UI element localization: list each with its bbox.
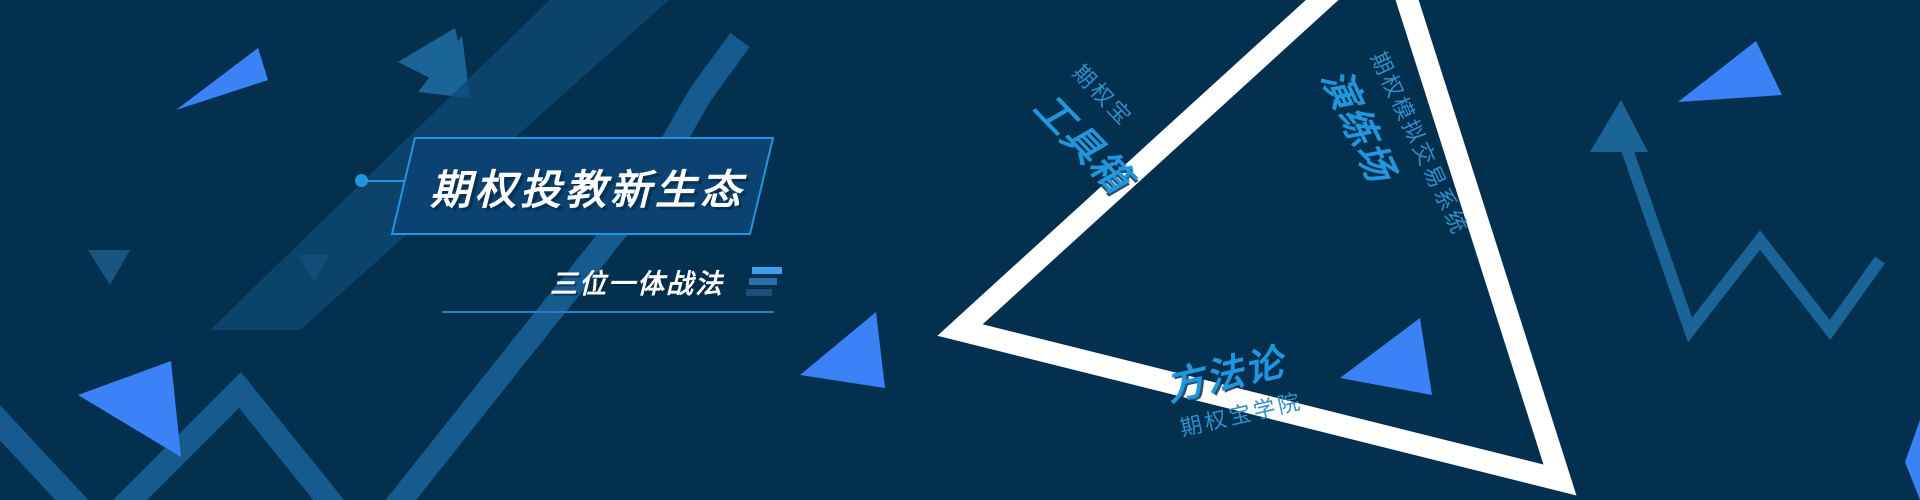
subtitle-row: 三位一体战法	[440, 258, 780, 304]
bar-chart-icon	[746, 266, 780, 296]
subtitle-divider	[442, 311, 774, 313]
subtitle-text: 三位一体战法	[550, 262, 724, 301]
banner-root: 期权投教新生态 三位一体战法 期权宝 工具箱 期权模拟交易系统 演练场 方法论 …	[0, 0, 1920, 500]
title-connector-line	[0, 0, 1920, 500]
title-plate: 期权投教新生态	[390, 136, 775, 236]
page-title: 期权投教新生态	[390, 136, 775, 236]
